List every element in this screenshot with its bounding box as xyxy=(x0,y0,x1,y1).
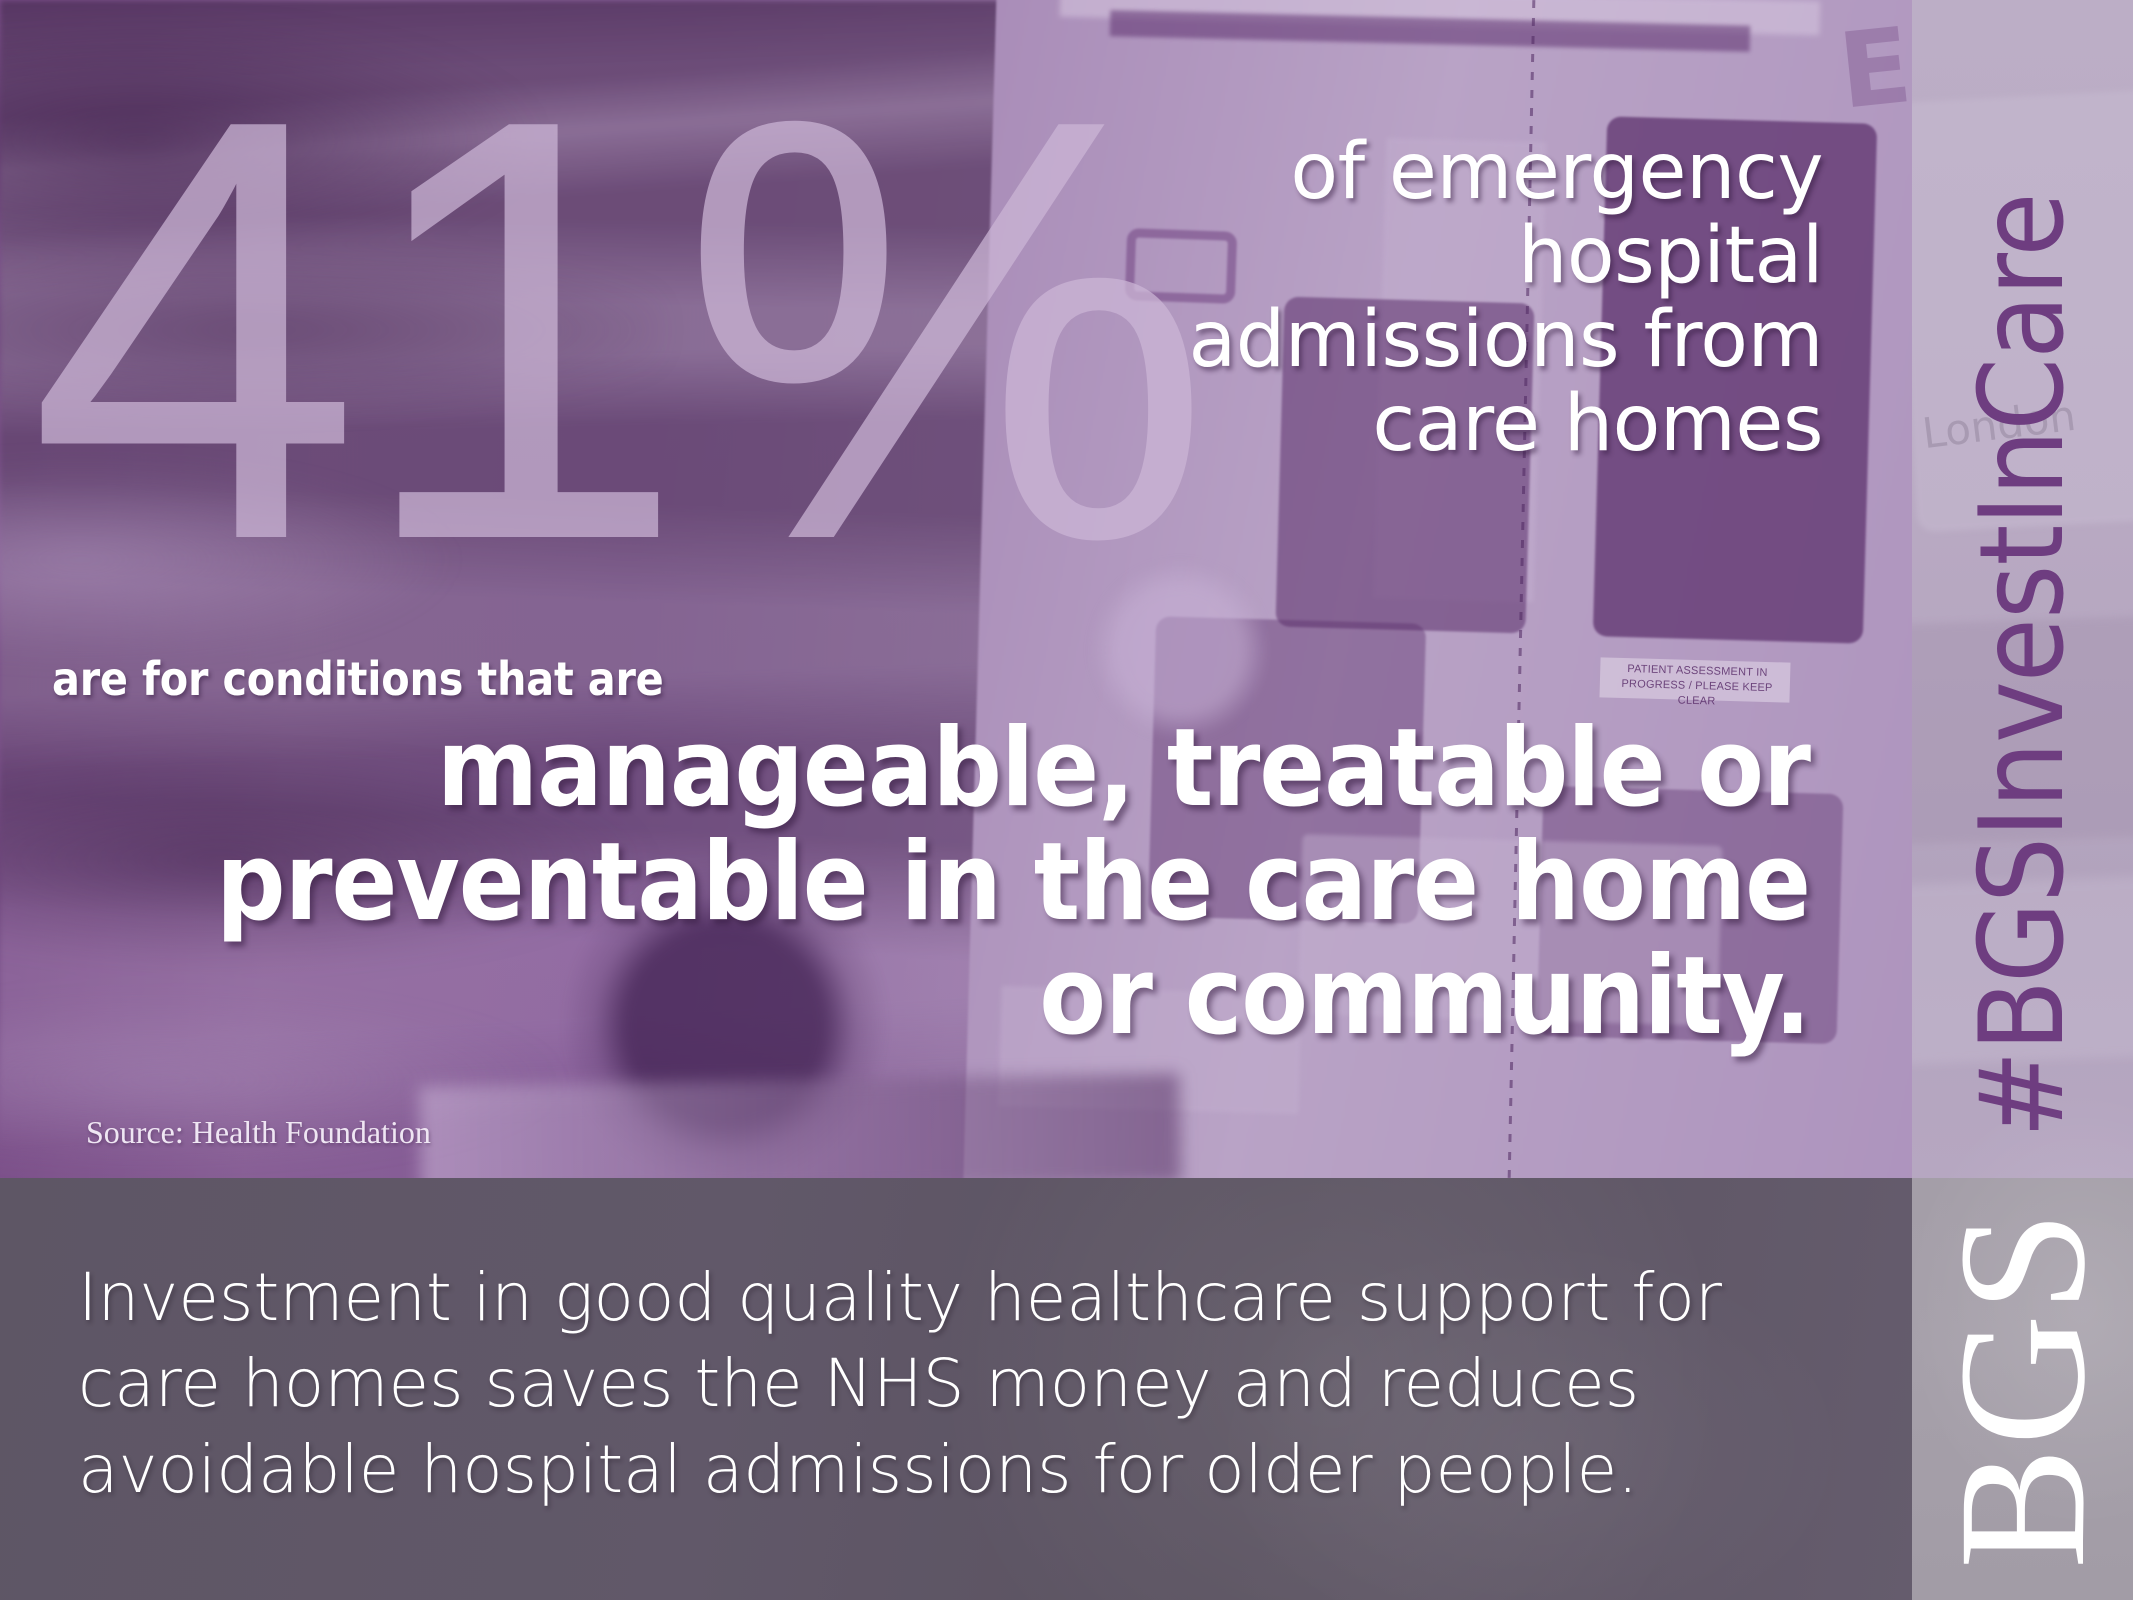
infographic-poster: PATIENT ASSESSMENT IN PROGRESS / PLEASE … xyxy=(0,0,2133,1600)
campaign-hashtag: #BGSInvestInCare xyxy=(1912,0,2133,1178)
bgs-logo: BGS xyxy=(1912,1178,2133,1600)
sidebar-top-panel: London #BGSInvestInCare xyxy=(1912,0,2133,1178)
stat-value: 41% xyxy=(28,30,1205,630)
right-sidebar: London #BGSInvestInCare BGS xyxy=(1912,0,2133,1600)
stat-kicker: are for conditions that are xyxy=(52,654,664,704)
ambulance-bumper xyxy=(419,1073,1181,1178)
ambulance-sticker-text: PATIENT ASSESSMENT IN PROGRESS / PLEASE … xyxy=(1601,661,1792,711)
background-word-emergency: Emergency xyxy=(1833,0,1912,133)
stat-headline-right: of emergency hospital admissions from ca… xyxy=(1183,130,1823,466)
stat-headline-main: manageable, treatable or preventable in … xyxy=(130,712,1810,1054)
source-credit: Source: Health Foundation xyxy=(86,1113,431,1151)
callout-text: Investment in good quality healthcare su… xyxy=(78,1255,1838,1513)
